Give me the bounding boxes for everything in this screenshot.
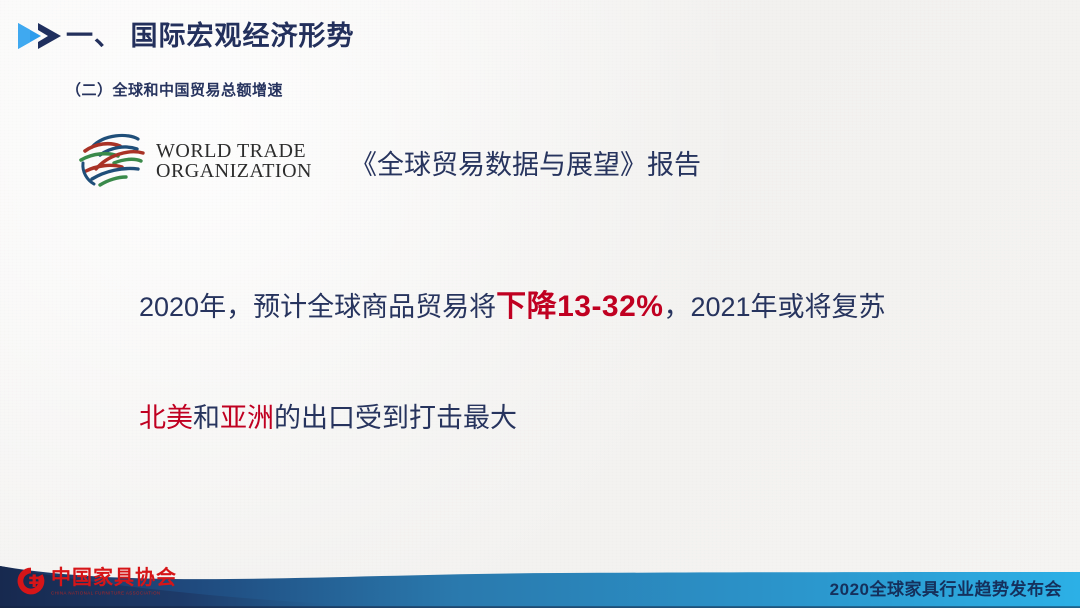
body-line-1-highlight: 下降13-32% [496,290,663,323]
wto-logo: WORLD TRADE ORGANIZATION [74,130,312,192]
double-chevron-right-icon [14,21,64,51]
slide-footer: 2020全球家具行业趋势发布会 中国家具协会 CHINA NATIONAL FU… [0,548,1080,608]
association-names: 中国家具协会 CHINA NATIONAL FURNITURE ASSOCIAT… [51,568,177,595]
report-title: 《全球贸易数据与展望》报告 [350,143,701,182]
wto-wordmark-line-2: ORGANIZATION [156,161,312,181]
body-line-1-part-2: ，2021年或将复苏 [663,292,885,322]
association-name-cn: 中国家具协会 [51,568,177,589]
wto-globe-arcs-icon [74,130,150,192]
body-line-2-tail: 的出口受到打击最大 [274,403,517,433]
section-subtitle: （二）全球和中国贸易总额增速 [66,79,283,100]
body-line-2-region-1: 北美 [139,403,193,433]
china-furniture-association-logo-icon: 中国家具协会 CHINA NATIONAL FURNITURE ASSOCIAT… [16,564,177,598]
event-title: 2020全球家具行业趋势发布会 [830,575,1062,600]
page-title: 一、 国际宏观经济形势 [66,14,355,53]
body-line-1: 2020年，预计全球商品贸易将下降13-32%，2021年或将复苏 [139,281,886,325]
wto-wordmark-line-1: WORLD TRADE [156,141,312,161]
slide-header: 一、 国际宏观经济形势 [0,14,1080,60]
association-name-en: CHINA NATIONAL FURNITURE ASSOCIATION [51,590,177,596]
slide-canvas: 一、 国际宏观经济形势 （二）全球和中国贸易总额增速 [0,0,1080,608]
body-line-2-conjunction: 和 [193,403,220,433]
body-line-2: 北美和亚洲的出口受到打击最大 [139,396,517,435]
body-line-2-region-2: 亚洲 [220,403,274,433]
wto-wordmark: WORLD TRADE ORGANIZATION [156,141,312,182]
body-line-1-part-1: 2020年，预计全球商品贸易将 [139,292,496,322]
association-mark-icon [16,566,46,596]
